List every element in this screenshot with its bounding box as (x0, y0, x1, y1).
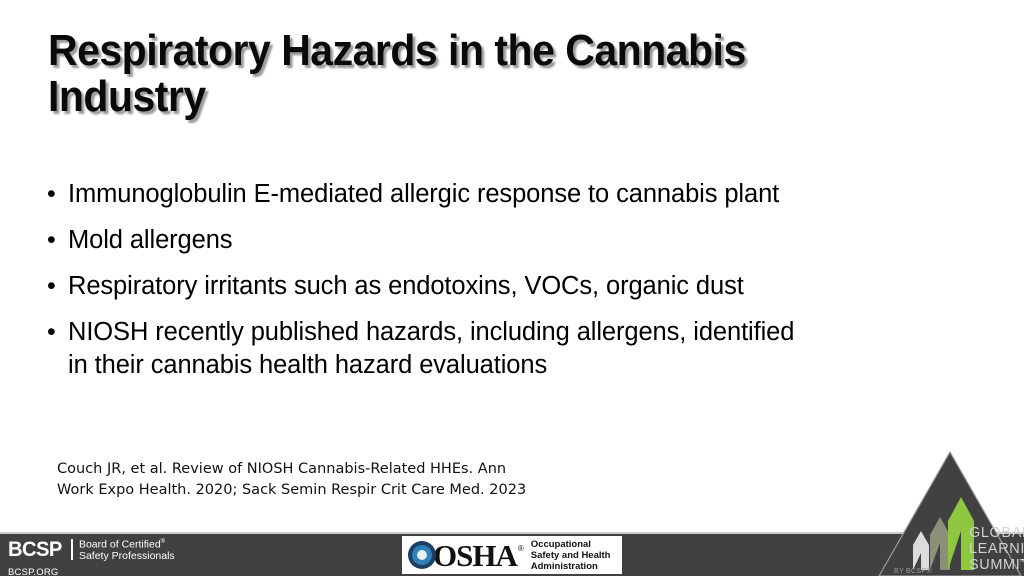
bullet-text-4-line-1: NIOSH recently published hazards, includ… (68, 318, 794, 346)
osha-lockup: OSHA ® (408, 540, 524, 571)
bcsp-lockup: BCSP Board of Certified® Safety Professi… (8, 537, 175, 563)
bullet-marker-icon: • (42, 178, 68, 211)
citation-line-1: Couch JR, et al. Review of NIOSH Cannabi… (57, 459, 697, 480)
bullet-text-4: NIOSH recently published hazards, includ… (68, 316, 962, 382)
bcsp-wordmark: BCSP (8, 539, 62, 560)
gls-line-1: GLOBAL (969, 525, 1024, 541)
bullet-item-3: • Respiratory irritants such as endotoxi… (42, 270, 962, 303)
osha-agency-line-1: Occupational (531, 539, 611, 550)
gls-line-2: LEARNING (969, 541, 1024, 557)
bullet-item-2: • Mold allergens (42, 224, 962, 257)
gls-byline: BY BCSP® (894, 567, 932, 575)
gls-trademark-icon: ™ (1019, 559, 1024, 566)
slide-title: Respiratory Hazards in the Cannabis Indu… (48, 28, 820, 120)
bcsp-logo: BCSP Board of Certified® Safety Professi… (8, 537, 175, 576)
bullet-marker-icon: • (42, 224, 68, 257)
global-learning-summit-logo: GLOBAL LEARNING SUMMIT ™ BY BCSP® (872, 449, 1024, 576)
slide-canvas: Respiratory Hazards in the Cannabis Indu… (0, 0, 1024, 576)
bcsp-subtitle: Board of Certified® Safety Professionals (79, 537, 175, 563)
bullet-text-4-line-2: in their cannabis health hazard evaluati… (68, 349, 962, 382)
bcsp-url: BCSP.ORG (8, 568, 175, 576)
osha-circle-icon (408, 541, 436, 569)
osha-logo: OSHA ® Occupational Safety and Health Ad… (402, 536, 622, 574)
osha-wordmark: OSHA (433, 540, 517, 571)
citation-block: Couch JR, et al. Review of NIOSH Cannabi… (57, 459, 697, 501)
bullet-marker-icon: • (42, 270, 68, 303)
osha-agency-line-2: Safety and Health (531, 550, 611, 561)
bullet-item-4: • NIOSH recently published hazards, incl… (42, 316, 962, 382)
gls-line-3: SUMMIT (969, 557, 1024, 573)
bullet-list: • Immunoglobulin E-mediated allergic res… (42, 178, 962, 395)
bullet-text-1: Immunoglobulin E-mediated allergic respo… (68, 178, 962, 211)
bcsp-subtitle-line-2: Safety Professionals (79, 550, 175, 562)
registered-mark-icon: ® (518, 544, 524, 553)
bcsp-subtitle-line-1: Board of Certified (79, 539, 161, 551)
osha-agency-name: Occupational Safety and Health Administr… (531, 539, 611, 572)
bullet-item-1: • Immunoglobulin E-mediated allergic res… (42, 178, 962, 211)
osha-agency-line-3: Administration (531, 561, 611, 572)
bullet-text-3: Respiratory irritants such as endotoxins… (68, 270, 962, 303)
bcsp-divider (71, 539, 73, 560)
bullet-marker-icon: • (42, 316, 68, 349)
citation-line-2: Work Expo Health. 2020; Sack Semin Respi… (57, 480, 697, 501)
registered-mark-icon: ® (161, 539, 165, 545)
bullet-text-2: Mold allergens (68, 224, 962, 257)
gls-logo-svg: GLOBAL LEARNING SUMMIT ™ BY BCSP® (872, 449, 1024, 576)
